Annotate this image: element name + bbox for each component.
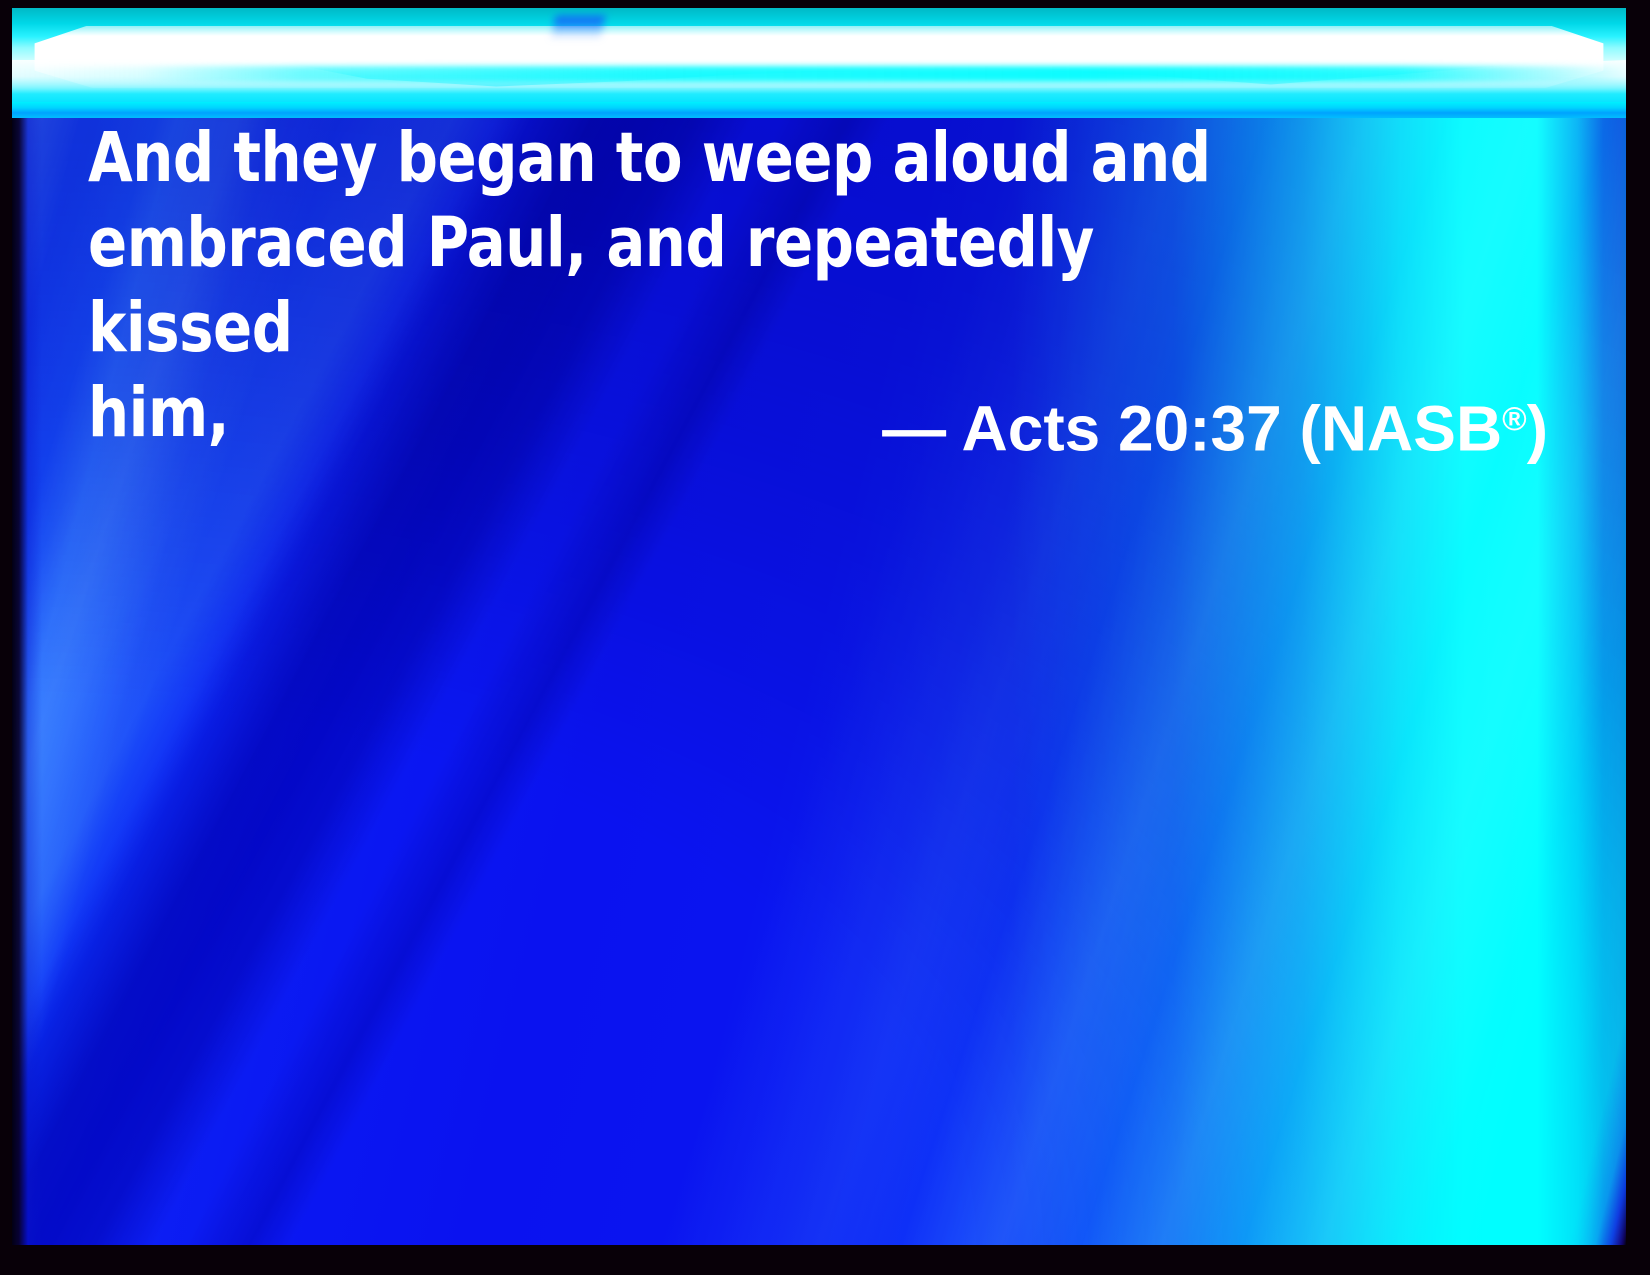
top-band-blue-notch [551, 16, 605, 40]
attribution-reference: Acts 20:37 [962, 393, 1282, 465]
attribution-version-close: ) [1527, 393, 1548, 465]
attribution-dash: — [882, 393, 946, 465]
verse-attribution: — Acts 20:37 (NASB®) [12, 382, 1548, 467]
top-band-cyan-streak [12, 66, 1626, 82]
registered-trademark-icon: ® [1502, 401, 1527, 438]
attribution-version-open: (NASB [1300, 393, 1503, 465]
top-glow-band [12, 8, 1626, 118]
scripture-slide: And they began to weep aloud and embrace… [0, 0, 1650, 1275]
slide-artwork-canvas: And they began to weep aloud and embrace… [12, 8, 1626, 1245]
